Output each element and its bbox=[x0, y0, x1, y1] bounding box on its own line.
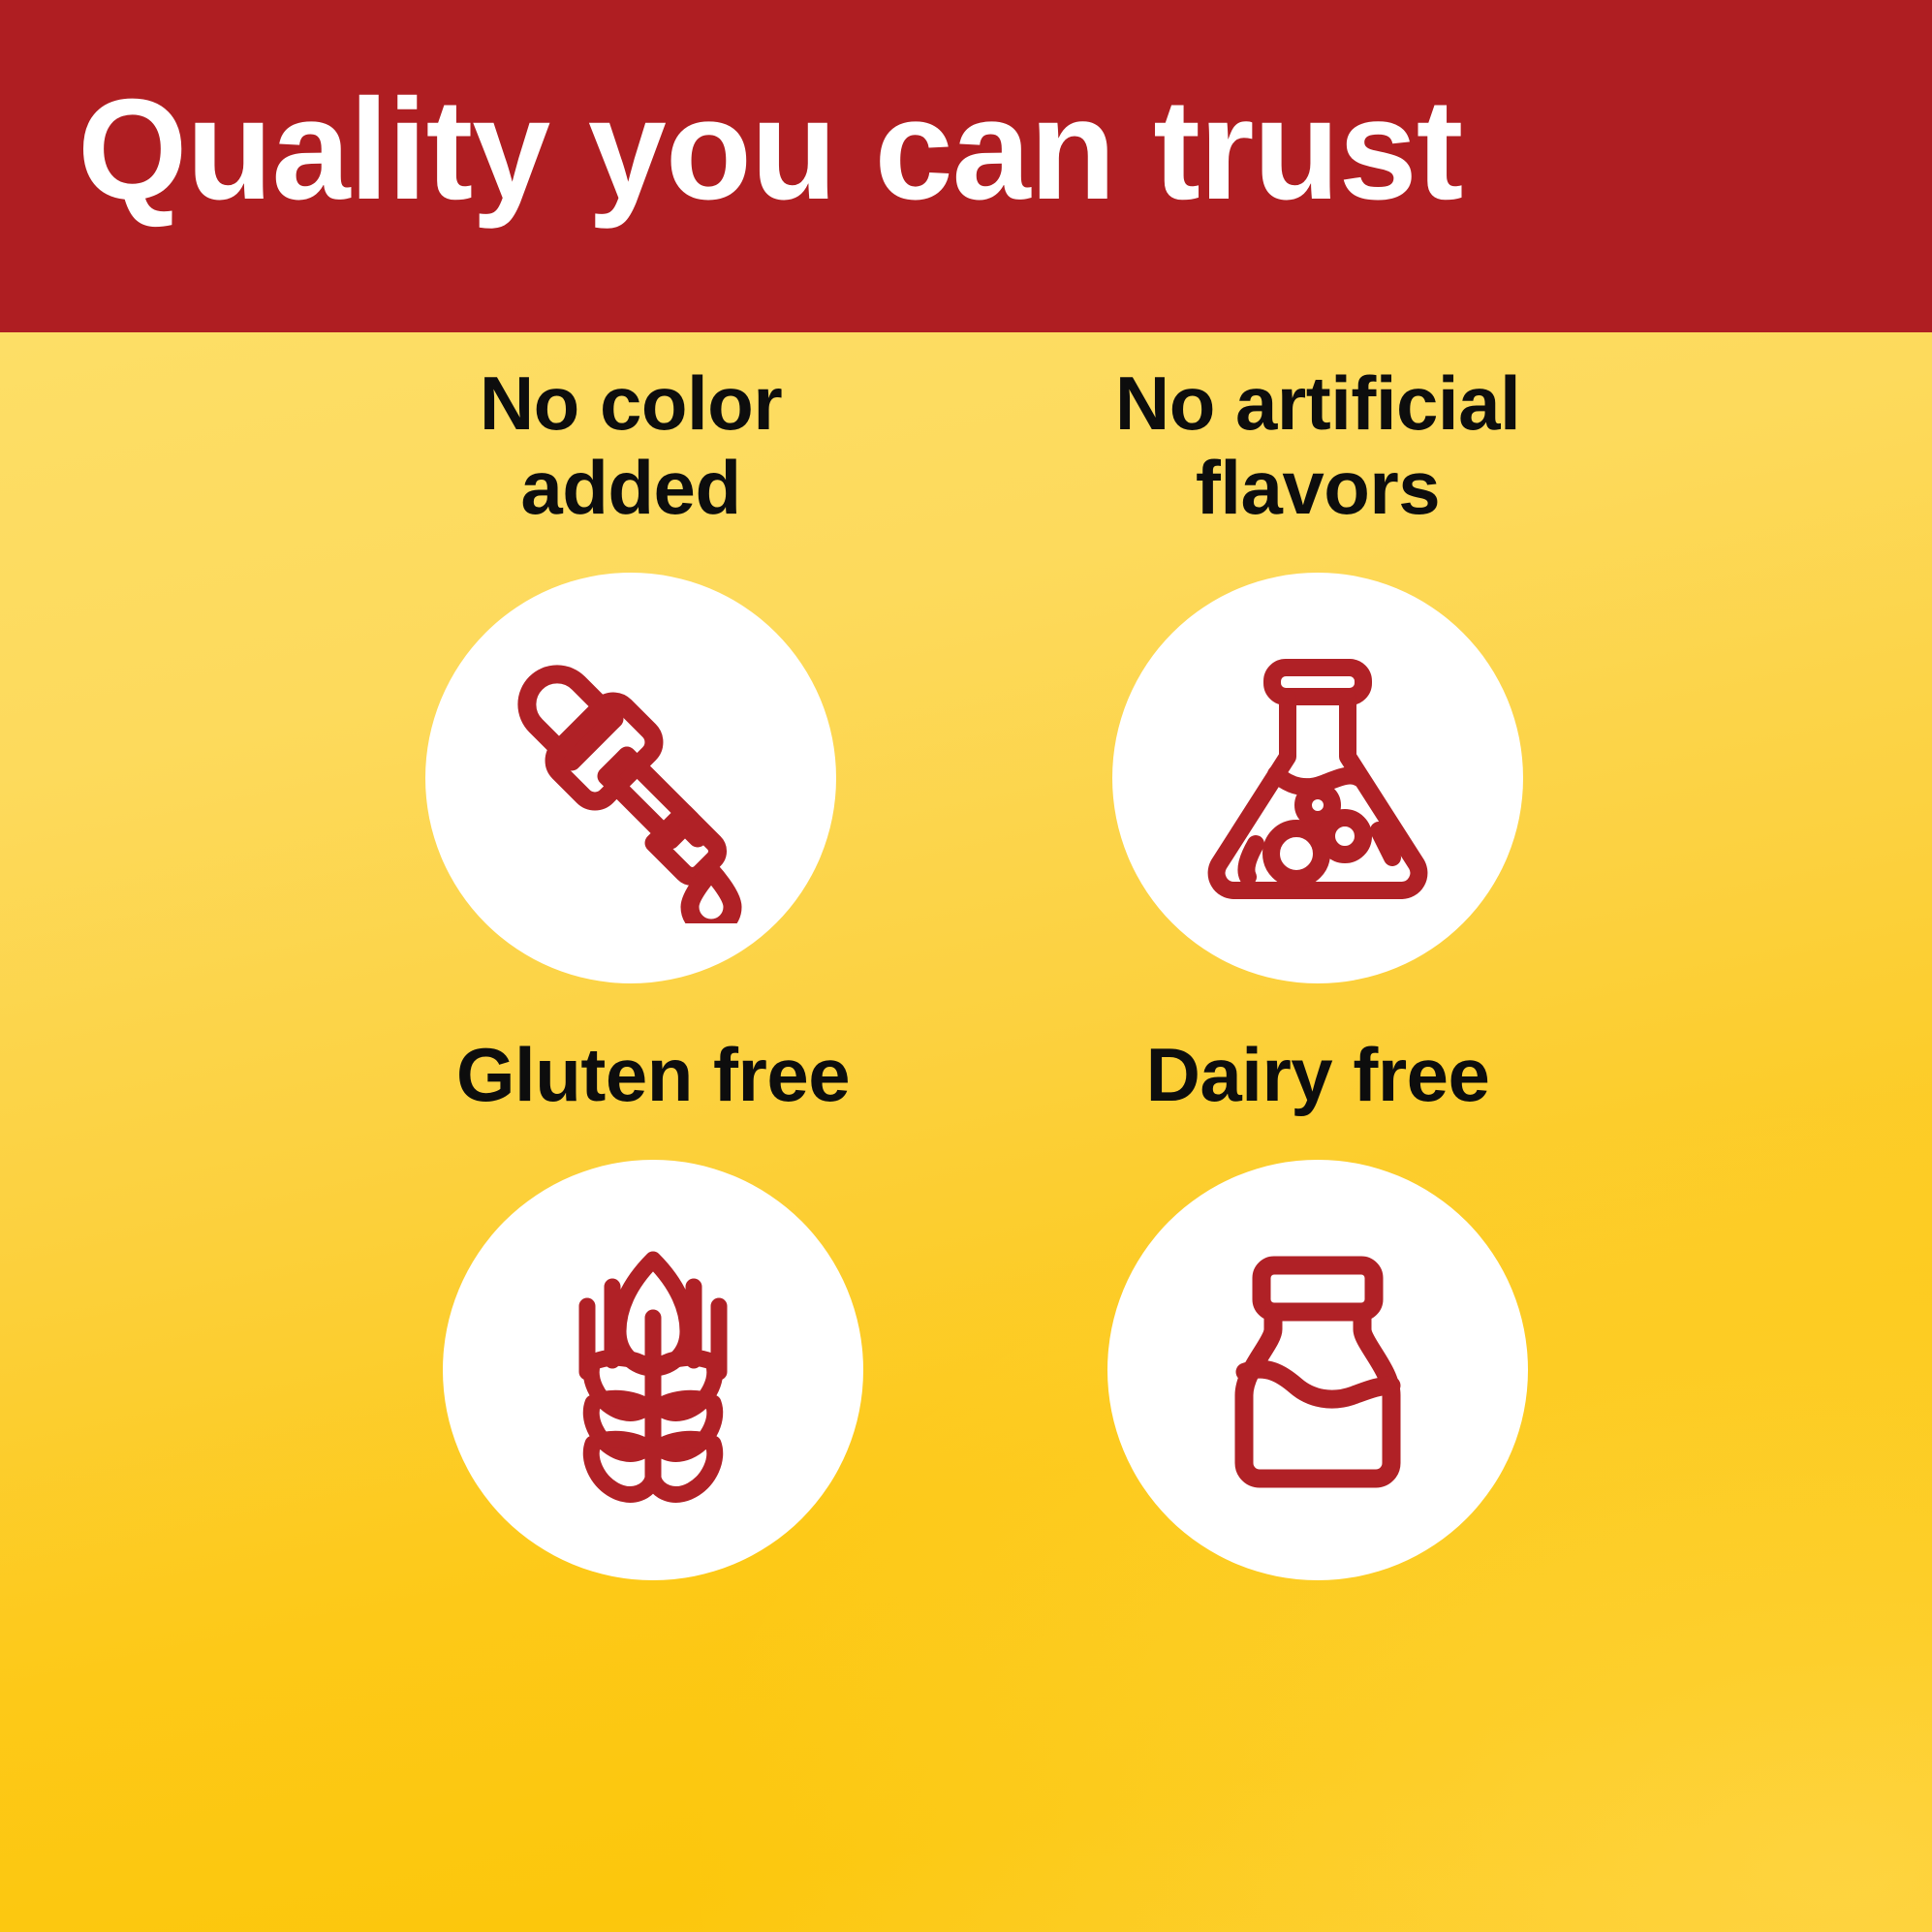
quality-badges-poster: Quality you can trust No color added bbox=[0, 0, 1932, 1932]
wheat-icon bbox=[508, 1225, 798, 1515]
icon-disc bbox=[443, 1160, 863, 1580]
milk-bottle-icon bbox=[1172, 1225, 1463, 1515]
icon-disc bbox=[425, 573, 836, 983]
icon-disc bbox=[1112, 573, 1523, 983]
page-title: Quality you can trust bbox=[78, 48, 1843, 252]
header-band: Quality you can trust bbox=[0, 0, 1932, 332]
flask-icon bbox=[1172, 633, 1463, 923]
dropper-icon bbox=[485, 633, 776, 923]
feature-dairy-free: Dairy free bbox=[896, 1033, 1739, 1580]
feature-no-artificial-flavors: No artificial flavors bbox=[896, 361, 1739, 983]
feature-label: Dairy free bbox=[896, 1033, 1739, 1117]
icon-disc bbox=[1107, 1160, 1528, 1580]
feature-label: No artificial flavors bbox=[896, 361, 1739, 530]
feature-grid: No color added bbox=[0, 332, 1932, 1932]
